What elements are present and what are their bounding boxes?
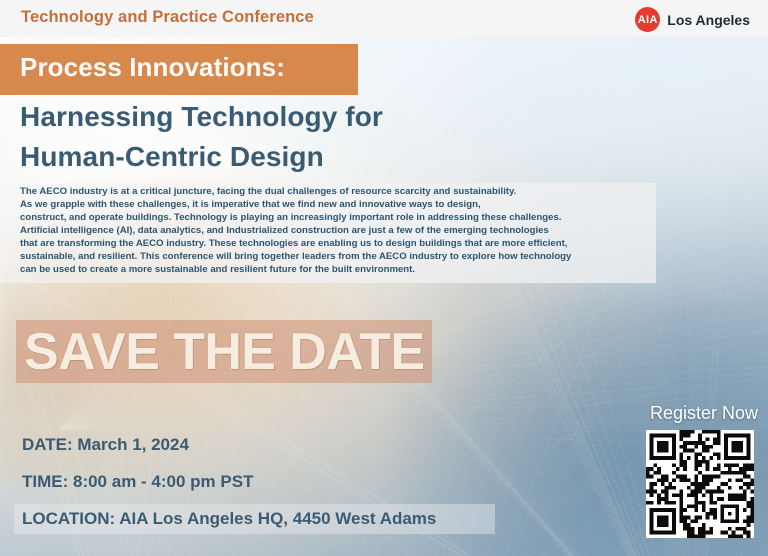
event-location: LOCATION: AIA Los Angeles HQ, 4450 West … bbox=[22, 509, 436, 529]
body-paragraph: The AECO industry is at a critical junct… bbox=[20, 185, 660, 276]
event-date: DATE: March 1, 2024 bbox=[22, 435, 189, 455]
registration-qr-code[interactable] bbox=[646, 430, 754, 538]
body-line-7: can be used to create a more sustainable… bbox=[20, 263, 660, 276]
save-the-date-text: SAVE THE DATE bbox=[24, 321, 425, 383]
title-highlight-band: Process Innovations: bbox=[0, 44, 358, 95]
body-line-3: construct, and operate buildings. Techno… bbox=[20, 211, 660, 224]
title-highlight-text: Process Innovations: bbox=[20, 52, 285, 83]
conference-kicker: Technology and Practice Conference bbox=[21, 8, 314, 27]
logo-label: Los Angeles bbox=[667, 12, 750, 28]
body-line-4: Artificial intelligence (AI), data analy… bbox=[20, 224, 660, 237]
register-now-label: Register Now bbox=[650, 403, 758, 424]
aia-los-angeles-logo: AIA Los Angeles bbox=[635, 7, 750, 32]
conference-poster: Technology and Practice Conference AIA L… bbox=[0, 0, 768, 556]
body-line-5: that are transforming the AECO industry.… bbox=[20, 237, 660, 250]
title-line-2: Harnessing Technology for bbox=[20, 101, 383, 133]
title-line-3: Human-Centric Design bbox=[20, 141, 324, 173]
event-time: TIME: 8:00 am - 4:00 pm PST bbox=[22, 472, 253, 492]
aia-logo-icon: AIA bbox=[635, 7, 660, 32]
body-line-2: As we grapple with these challenges, it … bbox=[20, 198, 660, 211]
body-line-6: sustainable, and resilient. This confere… bbox=[20, 250, 660, 263]
body-line-1: The AECO industry is at a critical junct… bbox=[20, 185, 660, 198]
